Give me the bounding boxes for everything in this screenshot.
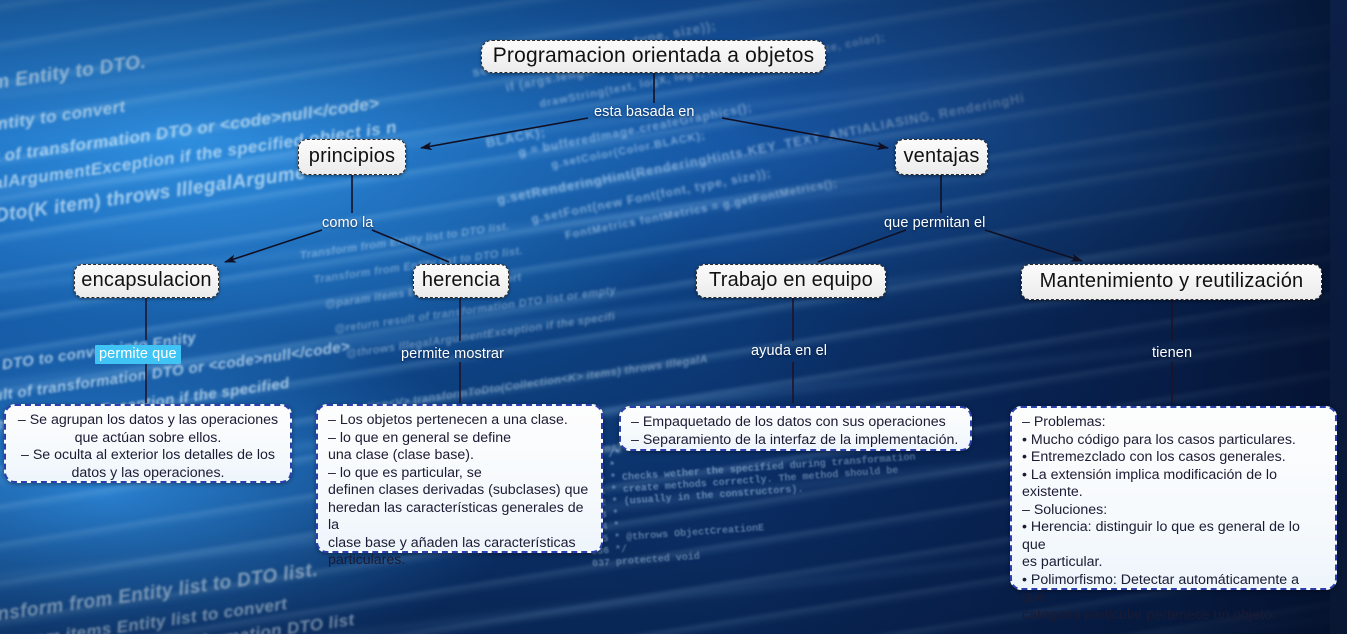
- edge-label-permite-que[interactable]: permite que: [95, 345, 181, 364]
- node-root[interactable]: Programacion orientada a objetos: [481, 40, 826, 73]
- detail-line: – lo que en general se define: [328, 430, 591, 448]
- edge-label-ayuda-en-el[interactable]: ayuda en el: [751, 343, 827, 359]
- node-principios[interactable]: principios: [298, 139, 406, 175]
- edge-label-esta-basada-en[interactable]: esta basada en: [594, 104, 695, 120]
- detail-box-mantenimiento[interactable]: – Problemas:• Mucho código para los caso…: [1010, 406, 1337, 590]
- detail-line: existente.: [1022, 484, 1325, 502]
- detail-line: – lo que es particular, se: [328, 465, 591, 483]
- node-encapsulacion-label: encapsulacion: [81, 269, 211, 292]
- edge-to-mantenimiento: [985, 230, 1082, 261]
- node-mantenimiento-reutilizacion-label: Mantenimiento y reutilización: [1040, 270, 1304, 293]
- detail-line: • Entremezclado con los casos generales.: [1022, 449, 1325, 467]
- edge-label-tienen[interactable]: tienen: [1152, 345, 1192, 361]
- detail-line: definen clases derivadas (subclases) que: [328, 482, 591, 500]
- edge-to-principios: [421, 118, 588, 148]
- detail-box-encapsulacion[interactable]: – Se agrupan los datos y las operaciones…: [4, 404, 292, 483]
- detail-line: datos y las operaciones.: [16, 465, 280, 483]
- detail-line: – Los objetos pertenecen a una clase.: [328, 412, 591, 430]
- detail-line: – Separamiento de la interfaz de la impl…: [631, 432, 960, 450]
- detail-line: categoria particular pertenece un objeto…: [1022, 607, 1325, 625]
- detail-box-trabajo-en-equipo[interactable]: – Empaquetado de los datos con sus opera…: [619, 406, 972, 451]
- detail-line: – Soluciones:: [1022, 502, 1325, 520]
- detail-line: • La extensión implica modificación de l…: [1022, 467, 1325, 485]
- edge-label-permite-mostrar[interactable]: permite mostrar: [401, 346, 504, 362]
- detail-line: particulares.: [328, 552, 591, 570]
- detail-line: • Mucho código para los casos particular…: [1022, 432, 1325, 450]
- detail-line: que actúan sobre ellos.: [16, 430, 280, 448]
- edge-label-que-permitan-el[interactable]: que permitan el: [884, 215, 985, 231]
- edge-to-herencia: [372, 230, 449, 262]
- detail-line: • Polimorfismo: Detectar automáticamente…: [1022, 572, 1325, 607]
- node-herencia[interactable]: herencia: [413, 264, 509, 298]
- edge-to-trabajo: [818, 230, 906, 262]
- detail-box-herencia[interactable]: – Los objetos pertenecen a una clase.– l…: [316, 404, 603, 553]
- edge-to-encapsulacion: [225, 230, 322, 262]
- node-trabajo-en-equipo[interactable]: Trabajo en equipo: [696, 264, 886, 298]
- detail-line: – Empaquetado de los datos con sus opera…: [631, 414, 960, 432]
- node-principios-label: principios: [309, 145, 395, 168]
- node-root-label: Programacion orientada a objetos: [493, 44, 815, 68]
- detail-line: • Herencia: distinguir lo que es general…: [1022, 519, 1325, 554]
- detail-line: – Se oculta al exterior los detalles de …: [16, 447, 280, 465]
- detail-line: clase base y añaden las características: [328, 535, 591, 553]
- node-ventajas-label: ventajas: [903, 145, 979, 168]
- edge-to-ventajas: [722, 118, 888, 148]
- detail-line: – Se agrupan los datos y las operaciones: [16, 412, 280, 430]
- detail-line: una clase (clase base).: [328, 447, 591, 465]
- edge-label-como-la[interactable]: como la: [322, 215, 373, 231]
- node-ventajas[interactable]: ventajas: [895, 139, 988, 175]
- detail-line: es particular.: [1022, 554, 1325, 572]
- detail-line: heredan las características generales de…: [328, 500, 591, 535]
- concept-map-canvas: Transform from Entity to DTO.@param item…: [0, 0, 1347, 634]
- node-encapsulacion[interactable]: encapsulacion: [74, 264, 219, 298]
- node-mantenimiento-reutilizacion[interactable]: Mantenimiento y reutilización: [1021, 264, 1322, 300]
- node-trabajo-en-equipo-label: Trabajo en equipo: [709, 269, 873, 292]
- node-herencia-label: herencia: [422, 269, 500, 292]
- detail-line: – Problemas:: [1022, 414, 1325, 432]
